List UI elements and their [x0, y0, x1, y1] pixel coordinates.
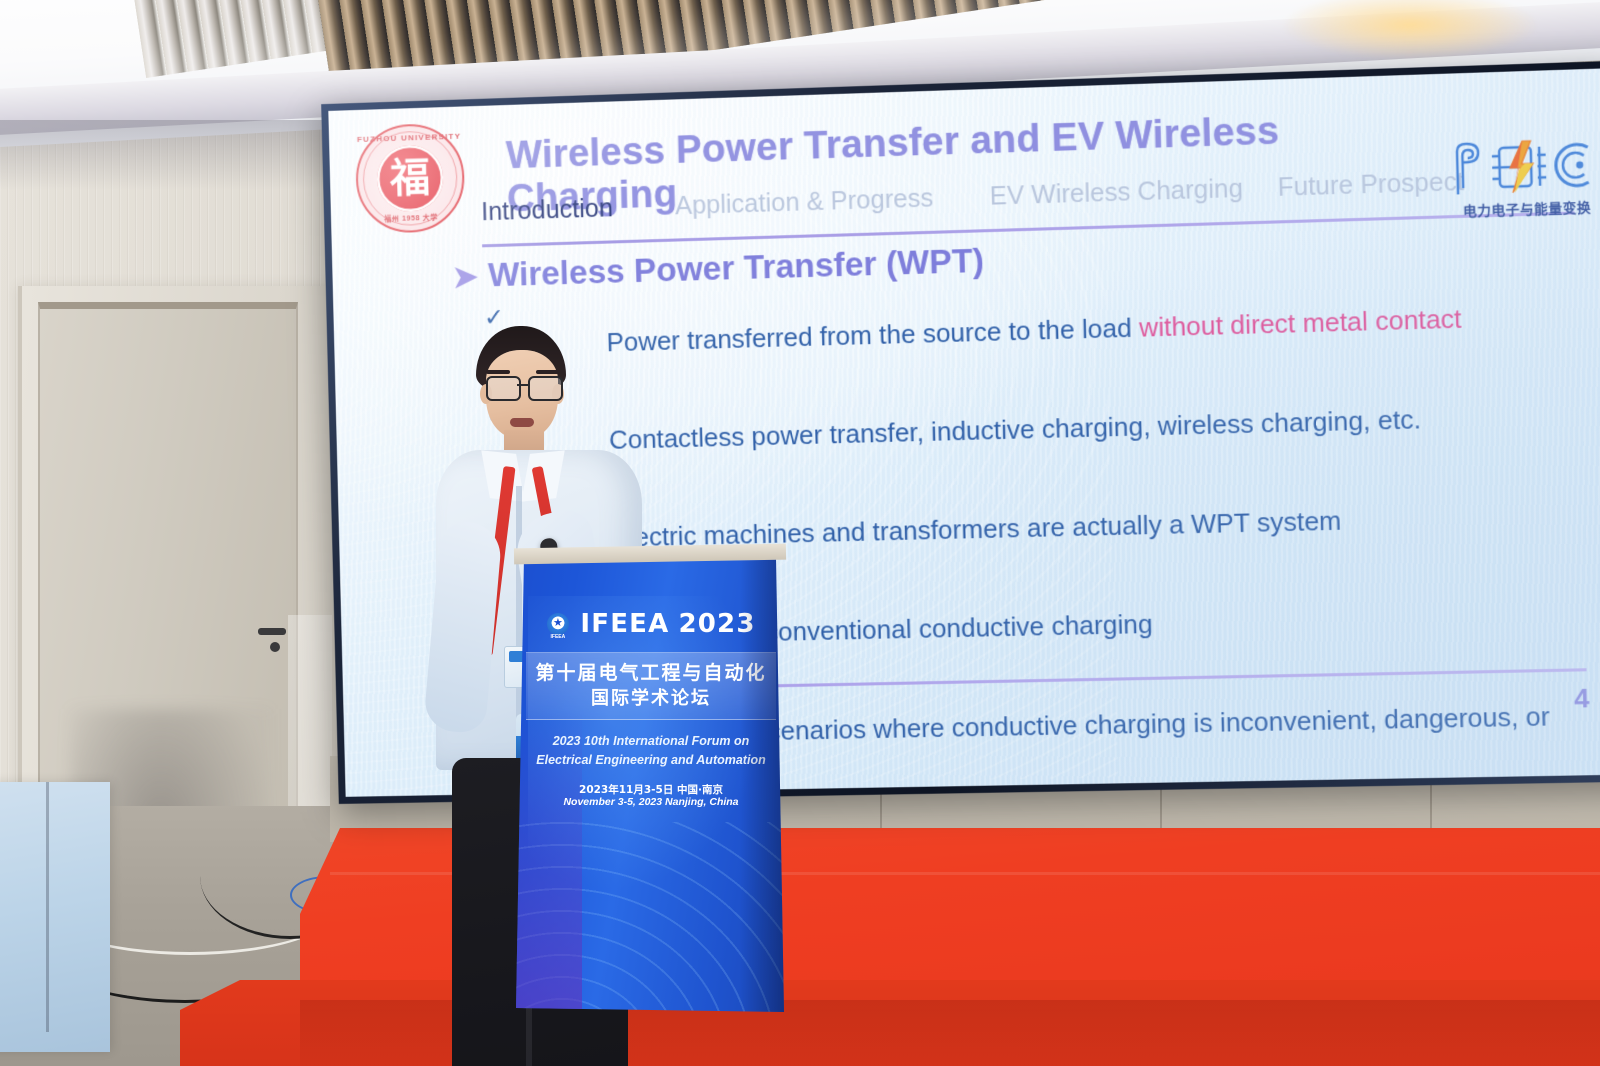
peec-chinese-caption: 电力电子与能量变换: [1450, 196, 1600, 220]
podium-chinese-line-2: 国际学术论坛: [591, 687, 711, 711]
podium-english-line-1: 2023 10th International Forum on: [528, 732, 774, 751]
bullet-item: ✓Contactless power transfer, inductive c…: [522, 370, 1600, 489]
glasses-lens: [528, 376, 563, 401]
podium-date-english: November 3-5, 2023 Nanjing, China: [528, 796, 774, 808]
podium: ★ IFEEA IFEEA 2023 第十届电气工程与自动化 国际学术论坛 20…: [516, 556, 784, 1012]
door[interactable]: [38, 302, 298, 855]
logo-bottom-arc-text: 福州 1958 大学: [359, 212, 463, 225]
ceiling-light-glow: [1280, 0, 1540, 60]
glasses-icon: [484, 376, 562, 398]
door-lock-icon[interactable]: [270, 642, 280, 652]
draped-side-table: [0, 782, 110, 1052]
bullet-text: Power transferred from the source to the…: [606, 314, 1139, 357]
star-icon: ★: [553, 618, 563, 629]
fuzhou-university-logo-icon: FUZHOU UNIVERSITY 福 福州 1958 大学: [355, 123, 466, 235]
slide-section-heading: ➤Wireless Power Transfer (WPT): [452, 241, 984, 295]
speaker-mouth: [510, 418, 534, 427]
speaker-eyebrow: [486, 370, 510, 374]
podium-date-chinese: 2023年11月3-5日 中国·南京: [528, 782, 774, 797]
podium-english-title: 2023 10th International Forum on Electri…: [528, 732, 774, 771]
tab-introduction[interactable]: Introduction: [481, 194, 613, 227]
ifeea-logo-icon: ★ IFEEA: [544, 608, 571, 639]
slide-page-number: 4: [1574, 683, 1590, 715]
door-handle-icon[interactable]: [258, 628, 286, 635]
peec-mark-svg: [1448, 132, 1600, 200]
glasses-lens: [486, 376, 521, 401]
podium-shading: [740, 556, 786, 1012]
tab-future-prospect[interactable]: Future Prospect: [1277, 168, 1464, 203]
podium-english-line-2: Electrical Engineering and Automation: [528, 751, 774, 770]
podium-chinese-band: 第十届电气工程与自动化 国际学术论坛: [526, 652, 776, 720]
bullet-highlight: without direct metal contact: [1139, 305, 1462, 343]
logo-top-arc-text: FUZHOU UNIVERSITY: [357, 132, 461, 144]
speaker-eyebrow: [536, 370, 560, 374]
section-arrow-icon: ➤: [452, 261, 478, 295]
conference-photo-scene: FUZHOU UNIVERSITY 福 福州 1958 大学 Wireless …: [0, 0, 1600, 1066]
bullet-text: Contactless power transfer, inductive ch…: [609, 406, 1422, 455]
section-heading-text: Wireless Power Transfer (WPT): [488, 241, 985, 293]
ifeea-badge-subtext: IFEEA: [544, 634, 571, 640]
glasses-bridge: [517, 384, 528, 386]
ifeea-badge-circle: ★: [547, 613, 569, 635]
peec-logo-icon: 电力电子与能量变换: [1448, 132, 1600, 235]
podium-body: ★ IFEEA IFEEA 2023 第十届电气工程与自动化 国际学术论坛 20…: [516, 556, 784, 1012]
podium-chinese-line-1: 第十届电气工程与自动化: [535, 661, 766, 687]
podium-brand-name: IFEEA: [580, 609, 669, 639]
